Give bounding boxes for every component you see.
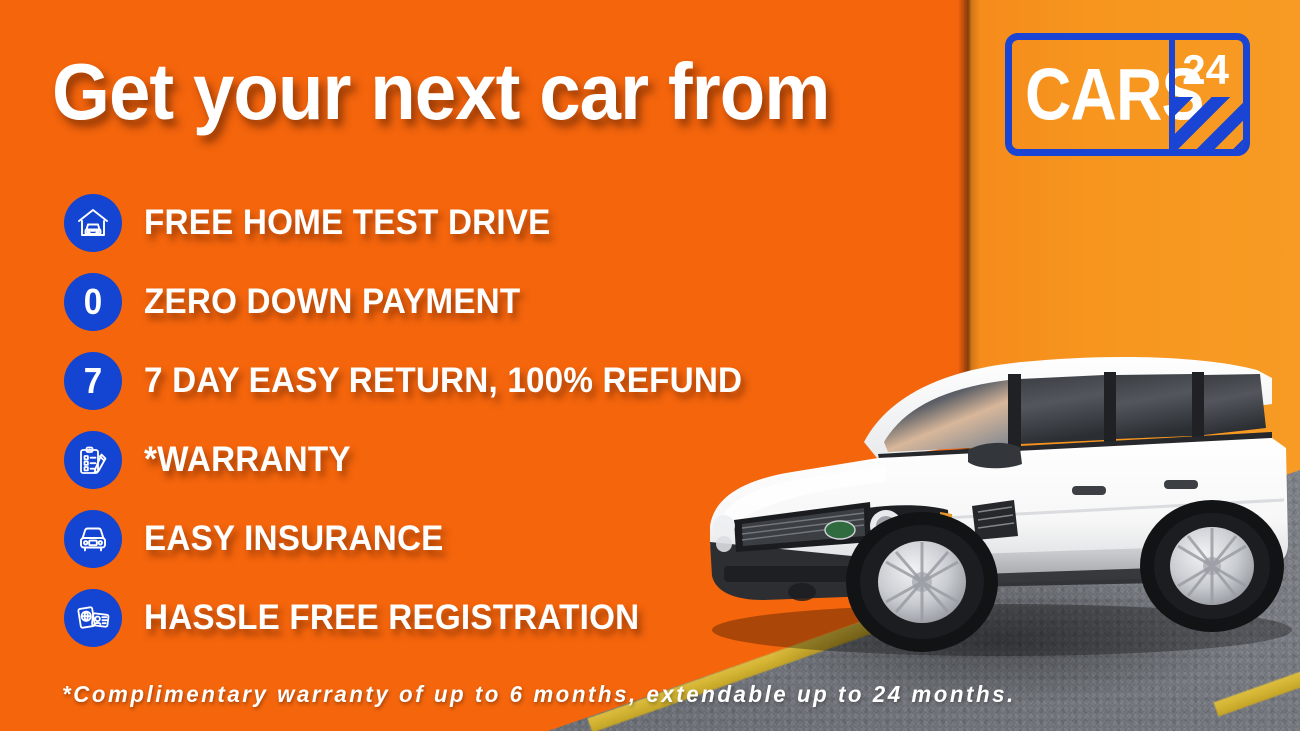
- feature-item: EASY INSURANCE: [64, 509, 774, 569]
- feature-item: FREE HOME TEST DRIVE: [64, 193, 774, 253]
- documents-id-icon: [64, 589, 122, 647]
- feature-label: FREE HOME TEST DRIVE: [144, 203, 551, 243]
- feature-list: FREE HOME TEST DRIVE 0 ZERO DOWN PAYMENT…: [64, 193, 774, 648]
- feature-item: HASSLE FREE REGISTRATION: [64, 588, 774, 648]
- feature-label: EASY INSURANCE: [144, 519, 444, 559]
- logo-stripes: [1175, 97, 1243, 149]
- feature-label: ZERO DOWN PAYMENT: [144, 282, 520, 322]
- car-front-icon: [64, 510, 122, 568]
- feature-label: *WARRANTY: [144, 440, 351, 480]
- logo-number: 24: [1182, 49, 1229, 91]
- feature-label: 7 DAY EASY RETURN, 100% REFUND: [144, 361, 742, 401]
- feature-item: *WARRANTY: [64, 430, 774, 490]
- cars24-logo[interactable]: CARS 24: [1005, 33, 1250, 156]
- feature-item: 7 7 DAY EASY RETURN, 100% REFUND: [64, 351, 774, 411]
- disclaimer-text: *Complimentary warranty of up to 6 month…: [62, 681, 1016, 708]
- badge-number: 0: [84, 284, 102, 320]
- feature-label: HASSLE FREE REGISTRATION: [144, 598, 639, 638]
- seven-badge-icon: 7: [64, 352, 122, 410]
- zero-badge-icon: 0: [64, 273, 122, 331]
- badge-number: 7: [84, 363, 102, 399]
- page-title: Get your next car from: [52, 52, 829, 132]
- feature-item: 0 ZERO DOWN PAYMENT: [64, 272, 774, 332]
- clipboard-pen-icon: [64, 431, 122, 489]
- home-garage-car-icon: [64, 194, 122, 252]
- cars24-promo-banner: Get your next car from CARS 24: [0, 0, 1300, 731]
